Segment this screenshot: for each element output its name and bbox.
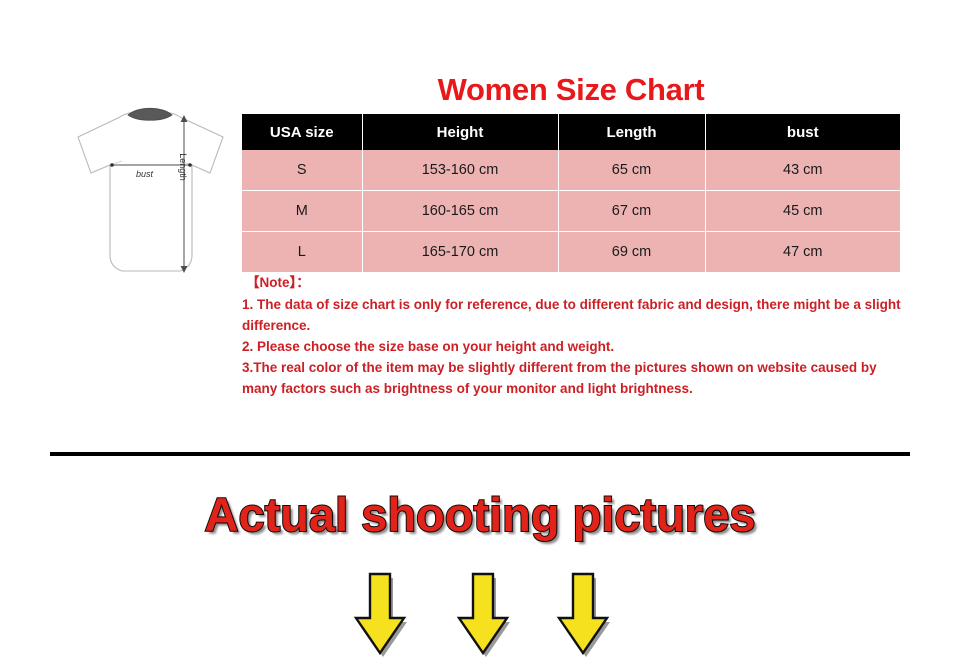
cell-length: 69 cm xyxy=(558,232,705,273)
cell-bust: 43 cm xyxy=(705,150,900,191)
cell-size: S xyxy=(242,150,362,191)
cell-length: 65 cm xyxy=(558,150,705,191)
shirt-body-outline xyxy=(78,111,223,271)
t-shirt-measurement-diagram: Length bust xyxy=(60,95,240,280)
page-title: Women Size Chart xyxy=(242,70,900,110)
section-divider xyxy=(50,452,910,456)
cell-size: L xyxy=(242,232,362,273)
down-arrow-icon xyxy=(352,570,408,658)
cell-size: M xyxy=(242,191,362,232)
note-line-3: 3.The real color of the item may be slig… xyxy=(242,357,902,399)
note-line-2: 2. Please choose the size base on your h… xyxy=(242,336,902,357)
note-line-1: 1. The data of size chart is only for re… xyxy=(242,294,902,336)
cell-length: 67 cm xyxy=(558,191,705,232)
note-block: 【Note】： 1. The data of size chart is onl… xyxy=(242,272,902,399)
column-header-height: Height xyxy=(362,114,558,150)
column-header-length: Length xyxy=(558,114,705,150)
banner-heading: Actual shooting pictures xyxy=(0,487,960,543)
cell-height: 165-170 cm xyxy=(362,232,558,273)
length-label: Length xyxy=(178,153,188,181)
table-row: S 153-160 cm 65 cm 43 cm xyxy=(242,150,900,191)
column-header-bust: bust xyxy=(705,114,900,150)
cell-height: 153-160 cm xyxy=(362,150,558,191)
cell-height: 160-165 cm xyxy=(362,191,558,232)
table-header-row: USA size Height Length bust xyxy=(242,114,900,150)
table-row: M 160-165 cm 67 cm 45 cm xyxy=(242,191,900,232)
arrow-row xyxy=(350,570,620,662)
down-arrow-icon xyxy=(555,570,611,658)
size-chart-panel: Length bust Women Size Chart USA size He… xyxy=(0,0,960,450)
size-chart-table: USA size Height Length bust S 153-160 cm… xyxy=(242,114,900,272)
down-arrow-icon xyxy=(455,570,511,658)
cell-bust: 47 cm xyxy=(705,232,900,273)
actual-pictures-banner: Actual shooting pictures xyxy=(0,470,960,667)
table-row: L 165-170 cm 69 cm 47 cm xyxy=(242,232,900,273)
shirt-collar xyxy=(128,108,172,120)
bust-label: bust xyxy=(136,169,154,179)
cell-bust: 45 cm xyxy=(705,191,900,232)
note-heading: 【Note】： xyxy=(242,272,902,294)
column-header-usa-size: USA size xyxy=(242,114,362,150)
